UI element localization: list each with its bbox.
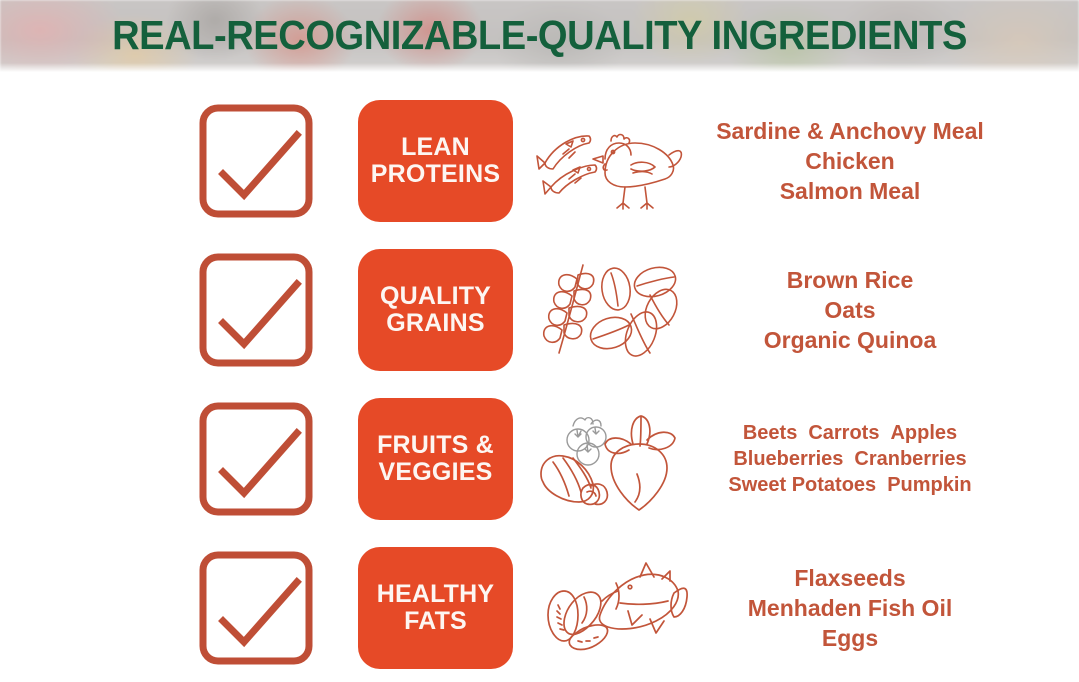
badge-line-1: FRUITS & bbox=[377, 432, 494, 459]
icon-cell bbox=[519, 111, 697, 211]
ingredient-line: Sardine & Anchovy Meal bbox=[697, 116, 1003, 146]
ingredient-item: Pumpkin bbox=[887, 474, 971, 496]
ingredient-item: Cranberries bbox=[854, 448, 966, 470]
badge-line-2: FATS bbox=[404, 608, 467, 635]
ingredient-item: Beets bbox=[743, 422, 797, 444]
ingredient-row-fruits-veggies: FRUITS & VEGGIES bbox=[0, 384, 1079, 533]
page-title: REAL-RECOGNIZABLE-QUALITY INGREDIENTS bbox=[38, 12, 1041, 59]
header-banner: REAL-RECOGNIZABLE-QUALITY INGREDIENTS bbox=[0, 0, 1079, 72]
checkbox-cell bbox=[0, 102, 352, 220]
category-badge-quality-grains[interactable]: QUALITY GRAINS bbox=[358, 249, 513, 371]
ingredient-text-cell: BeetsCarrotsApples BlueberriesCranberrie… bbox=[697, 420, 1079, 498]
ingredient-line: BeetsCarrotsApples bbox=[697, 420, 1003, 446]
wheat-and-grains-icon bbox=[533, 257, 683, 362]
ingredient-line: BlueberriesCranberries bbox=[697, 446, 1003, 472]
ingredient-item: Sweet Potatoes bbox=[728, 474, 876, 496]
ingredient-row-healthy-fats: HEALTHY FATS bbox=[0, 533, 1079, 682]
ingredient-text-cell: Sardine & Anchovy Meal Chicken Salmon Me… bbox=[697, 116, 1079, 206]
ingredient-line: Brown Rice bbox=[697, 265, 1003, 295]
badge-cell: FRUITS & VEGGIES bbox=[352, 398, 519, 520]
checkmark-box-icon[interactable] bbox=[197, 549, 315, 667]
fish-and-chicken-icon bbox=[533, 111, 683, 211]
ingredient-line: Salmon Meal bbox=[697, 176, 1003, 206]
category-badge-healthy-fats[interactable]: HEALTHY FATS bbox=[358, 547, 513, 669]
ingredient-row-quality-grains: QUALITY GRAINS bbox=[0, 235, 1079, 384]
badge-line-1: QUALITY bbox=[380, 283, 491, 310]
checkmark-box-icon[interactable] bbox=[197, 400, 315, 518]
icon-cell bbox=[519, 404, 697, 514]
ingredient-item: Apples bbox=[890, 422, 957, 444]
header-fade-divider bbox=[0, 63, 1079, 72]
ingredient-text-cell: Flaxseeds Menhaden Fish Oil Eggs bbox=[697, 563, 1079, 653]
ingredient-line: Eggs bbox=[697, 623, 1003, 653]
category-badge-fruits-veggies[interactable]: FRUITS & VEGGIES bbox=[358, 398, 513, 520]
ingredient-line: Organic Quinoa bbox=[697, 325, 1003, 355]
checkbox-cell bbox=[0, 400, 352, 518]
badge-cell: HEALTHY FATS bbox=[352, 547, 519, 669]
badge-line-1: HEALTHY bbox=[377, 581, 495, 608]
ingredient-line: Sweet PotatoesPumpkin bbox=[697, 472, 1003, 498]
icon-cell bbox=[519, 553, 697, 663]
icon-cell bbox=[519, 257, 697, 362]
flaxseed-and-fish-icon bbox=[528, 553, 688, 663]
badge-cell: LEAN PROTEINS bbox=[352, 100, 519, 222]
ingredient-item: Carrots bbox=[808, 422, 879, 444]
ingredient-line: Oats bbox=[697, 295, 1003, 325]
category-badge-lean-proteins[interactable]: LEAN PROTEINS bbox=[358, 100, 513, 222]
badge-line-2: PROTEINS bbox=[371, 161, 500, 188]
ingredient-row-lean-proteins: LEAN PROTEINS bbox=[0, 86, 1079, 235]
ingredients-infographic: REAL-RECOGNIZABLE-QUALITY INGREDIENTS LE… bbox=[0, 0, 1079, 682]
ingredient-rows: LEAN PROTEINS bbox=[0, 72, 1079, 682]
ingredient-line: Menhaden Fish Oil bbox=[697, 593, 1003, 623]
checkmark-box-icon[interactable] bbox=[197, 251, 315, 369]
ingredient-item: Blueberries bbox=[733, 448, 843, 470]
checkbox-cell bbox=[0, 549, 352, 667]
beet-carrot-blueberry-icon bbox=[533, 404, 683, 514]
ingredient-line: Chicken bbox=[697, 146, 1003, 176]
badge-line-1: LEAN bbox=[401, 134, 470, 161]
checkbox-cell bbox=[0, 251, 352, 369]
badge-line-2: GRAINS bbox=[386, 310, 484, 337]
checkmark-box-icon[interactable] bbox=[197, 102, 315, 220]
badge-line-2: VEGGIES bbox=[379, 459, 493, 486]
ingredient-text-cell: Brown Rice Oats Organic Quinoa bbox=[697, 265, 1079, 355]
ingredient-line: Flaxseeds bbox=[697, 563, 1003, 593]
badge-cell: QUALITY GRAINS bbox=[352, 249, 519, 371]
